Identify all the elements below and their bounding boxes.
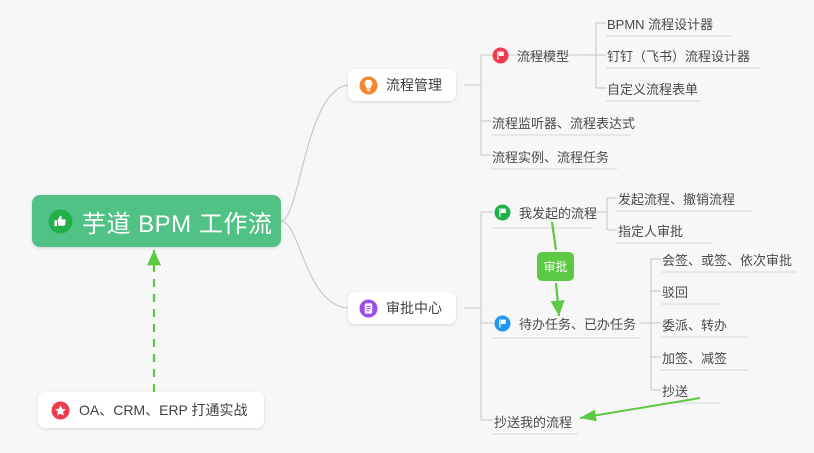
leaf-node-instance-task[interactable]: 流程实例、流程任务 <box>492 144 609 168</box>
flag-icon <box>494 315 511 332</box>
callout-label: OA、CRM、ERP 打通实战 <box>79 400 248 420</box>
leaf-node-cc[interactable]: 抄送 <box>662 378 688 402</box>
sub-node-process-model[interactable]: 流程模型 <box>492 42 569 68</box>
flag-icon <box>492 47 509 64</box>
arrow-initiated-to-tag <box>552 222 556 250</box>
leaf-node-custom-process-form[interactable]: 自定义流程表单 <box>607 76 698 100</box>
sub-node-my-initiated-processes[interactable]: 我发起的流程 <box>494 199 597 225</box>
leaf-node-add-remove-sign[interactable]: 加签、减签 <box>662 345 727 369</box>
branch-label-process-management: 流程管理 <box>386 75 442 95</box>
flag-icon <box>494 204 511 221</box>
leaf-node-countersign-orsign-sequential[interactable]: 会签、或签、依次审批 <box>662 247 792 271</box>
leaf-node-reject[interactable]: 驳回 <box>662 279 688 303</box>
callout-node-integration[interactable]: OA、CRM、ERP 打通实战 <box>38 392 264 428</box>
sub-node-todo-done-tasks[interactable]: 待办任务、已办任务 <box>494 310 636 336</box>
star-icon <box>51 401 70 420</box>
root-label: 芋道 BPM 工作流 <box>82 204 272 239</box>
sub-label-process-model: 流程模型 <box>517 46 569 65</box>
leaf-node-cc-my-processes[interactable]: 抄送我的流程 <box>494 409 572 433</box>
approval-tag-label: 审批 <box>543 258 567 275</box>
leaf-node-assignee-approval[interactable]: 指定人审批 <box>618 218 683 242</box>
approval-tag[interactable]: 审批 <box>537 252 574 281</box>
leaf-node-listener-expression[interactable]: 流程监听器、流程表达式 <box>492 110 635 134</box>
lightbulb-icon <box>359 76 378 95</box>
branch-node-approval-center[interactable]: 审批中心 <box>348 292 456 324</box>
sub-label-todo-done-tasks: 待办任务、已办任务 <box>519 314 636 333</box>
clipboard-icon <box>359 299 378 318</box>
leaf-node-bpmn-designer[interactable]: BPMN 流程设计器 <box>607 11 713 35</box>
link-root-to-approval-center <box>281 221 348 308</box>
thumbs-up-icon <box>48 209 73 234</box>
mindmap-canvas: 芋道 BPM 工作流 流程管理 审批中心 <box>0 0 814 453</box>
branch-node-process-management[interactable]: 流程管理 <box>348 69 456 101</box>
link-root-to-process-management <box>281 85 348 221</box>
leaf-node-start-cancel-process[interactable]: 发起流程、撤销流程 <box>618 186 735 210</box>
sub-label-my-initiated-processes: 我发起的流程 <box>519 203 597 222</box>
leaf-node-dingtalk-feishu-designer[interactable]: 钉钉（飞书）流程设计器 <box>607 43 750 67</box>
branch-label-approval-center: 审批中心 <box>386 298 442 318</box>
root-node[interactable]: 芋道 BPM 工作流 <box>32 195 281 247</box>
leaf-node-delegate-transfer[interactable]: 委派、转办 <box>662 312 727 336</box>
